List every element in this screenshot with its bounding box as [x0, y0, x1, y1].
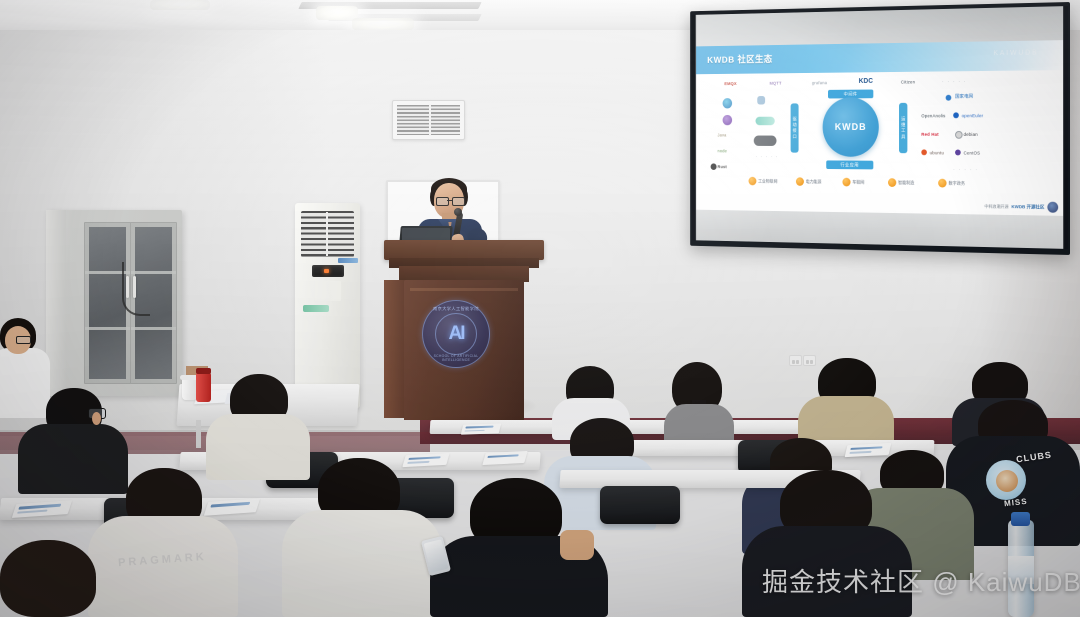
- app-icon: [749, 177, 757, 186]
- slide-footer-left: 中科浪潮开源: [984, 203, 1008, 209]
- chair-back[interactable]: [600, 486, 680, 524]
- right-ellipsis: · · · · ·: [953, 167, 978, 173]
- app-label: 数字政务: [948, 181, 965, 187]
- speaker-glasses-bridge: [447, 200, 452, 201]
- app-label: 智能制造: [898, 180, 914, 186]
- microphone-head-icon: [454, 208, 462, 216]
- logo-python-mark: [723, 115, 732, 125]
- logo-debian: debian: [964, 132, 978, 137]
- screen-edge-right: [1063, 6, 1068, 249]
- app-icon: [888, 178, 896, 187]
- cable: [122, 262, 150, 316]
- logo-ubuntu-mark: [921, 149, 927, 155]
- paper-cup: [182, 378, 197, 400]
- glasses: [16, 336, 31, 344]
- logo-java: Java: [717, 133, 726, 138]
- logo-node: node: [717, 149, 726, 154]
- logo-emqx: EMQX: [724, 81, 736, 86]
- logo-grafana: grafana: [812, 80, 827, 85]
- wall-socket: [789, 355, 802, 366]
- emblem-monogram: AI: [449, 323, 464, 345]
- logo-centos: CentOS: [964, 151, 981, 156]
- slide-footer-seal-icon: [1047, 202, 1058, 213]
- logo-mqtt: MQTT: [769, 81, 781, 86]
- ceiling-light: [150, 0, 210, 10]
- slide-footer-right: KWDB 开源社区: [1011, 204, 1044, 210]
- app-icon: [938, 179, 946, 188]
- logo-rust-mark: [711, 163, 717, 170]
- slide-footer: 中科浪潮开源 KWDB 开源社区: [984, 201, 1058, 213]
- handout-paper: [845, 443, 892, 457]
- ceiling-light: [352, 18, 414, 30]
- slide-title: KWDB 社区生态: [707, 52, 772, 66]
- projection-screen: KWDB 社区生态 KAIWUDB EMQX MQTT grafana KDC …: [690, 2, 1070, 255]
- vpill-ops-tools: 运维工具: [899, 103, 907, 153]
- pill-industry-apps: 行业应用: [826, 160, 873, 169]
- ac-brand-badge: [338, 258, 358, 263]
- logo-driver-2: [756, 117, 775, 125]
- logo-rust: Rust: [717, 164, 726, 169]
- logo-go-mark: [723, 98, 732, 108]
- ceiling-light: [316, 6, 358, 20]
- tee-graphic-dog-icon: [996, 470, 1018, 492]
- emblem-inner-ring: AI: [435, 313, 477, 355]
- app-icon: [842, 178, 850, 187]
- vpill-driver-interface: 驱动接口: [791, 103, 799, 152]
- emblem-text-cn: 南京大学人工智能学院: [423, 306, 489, 312]
- ac-label-sticker: [315, 281, 341, 301]
- wall-socket: [803, 355, 816, 366]
- table-leg: [196, 420, 201, 448]
- red-thermos: [196, 372, 211, 402]
- logo-partner-mark: [946, 95, 952, 101]
- handout-paper: [402, 453, 449, 467]
- app-label: 工业物联网: [758, 179, 777, 185]
- thermos-cap: [196, 368, 211, 374]
- ac-power-led-icon: [324, 269, 329, 273]
- handout-paper: [461, 423, 501, 434]
- left-ellipsis: · · · · ·: [756, 154, 779, 160]
- podium-emblem: 南京大学人工智能学院 AI SCHOOL OF ARTIFICIAL INTEL…: [422, 300, 490, 368]
- speaker-glasses-left: [436, 197, 449, 206]
- photo-scene: KWDB 社区生态 KAIWUDB EMQX MQTT grafana KDC …: [0, 0, 1080, 617]
- logo-state-grid: 国家电网: [955, 94, 973, 100]
- speaker-glasses-right: [452, 197, 465, 206]
- slide-header-ghost-text: KAIWUDB: [993, 49, 1038, 57]
- handout-paper: [482, 451, 527, 465]
- hand-holding-phone: [560, 530, 594, 560]
- bottle-cap: [1011, 512, 1030, 526]
- logo-ubuntu: ubuntu: [930, 150, 944, 155]
- logo-openanolis: OpenAnolis: [921, 113, 945, 118]
- screen-edge-left: [692, 15, 696, 240]
- app-label: 车联网: [852, 180, 864, 186]
- ac-green-decal: [303, 305, 329, 312]
- app-label: 电力能源: [806, 179, 822, 185]
- logo-citizen: Citizen: [901, 80, 915, 85]
- logo-kdc: KDC: [859, 78, 873, 85]
- emblem-text-en: SCHOOL OF ARTIFICIAL INTELLIGENCE: [423, 354, 489, 362]
- podium-top: [384, 240, 544, 260]
- logo-centos-mark: [955, 150, 961, 156]
- app-icon: [796, 177, 804, 186]
- logo-driver-1: [757, 96, 765, 105]
- slide-content: KWDB 社区生态 KAIWUDB EMQX MQTT grafana KDC …: [695, 40, 1064, 216]
- kwdb-core-logo: KWDB: [823, 97, 879, 157]
- logo-openeuler: openEuler: [962, 113, 984, 118]
- top-ellipsis: · · · · ·: [942, 79, 967, 85]
- logo-debian-mark: [955, 131, 963, 139]
- podium-trim: [410, 288, 518, 291]
- watermark-text: 掘金技术社区 @ KaiwuDB: [762, 562, 1080, 599]
- logo-redhat: Red Hat: [921, 132, 939, 137]
- podium-side: [384, 280, 406, 418]
- ac-louver-divider: [326, 212, 328, 256]
- wall-vent-grille: [392, 100, 465, 140]
- logo-openeuler-mark: [953, 112, 959, 118]
- logo-driver-3: [754, 136, 777, 146]
